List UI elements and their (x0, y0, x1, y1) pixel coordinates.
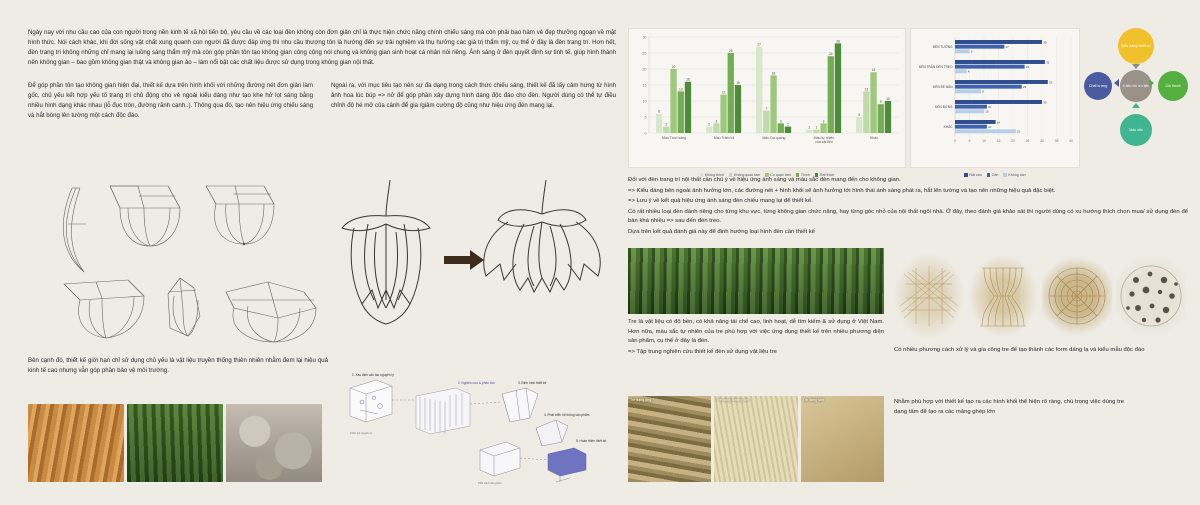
transform-arrow (444, 250, 484, 270)
svg-text:23: 23 (1023, 85, 1027, 89)
bamboo-caption-2: Tre dạng tấm (803, 398, 824, 402)
two-column-text: Để góp phần tôn tạo không gian hiện đại,… (28, 81, 616, 125)
form-description-text: Nhằm phù hợp với thiết kế tạo ra các hìn… (894, 398, 1124, 422)
svg-text:13: 13 (865, 87, 869, 91)
intro-paragraph: Ngày nay với nhu cầu cao của con người t… (28, 28, 616, 67)
material-note-text: Bên cạnh đó, thiết kế giới hạn chỉ sử dụ… (28, 356, 328, 376)
svg-text:9: 9 (880, 100, 882, 104)
svg-text:28: 28 (836, 39, 840, 43)
craft-woven-lamp-1 (894, 254, 964, 338)
svg-text:KHÁC: KHÁC (944, 125, 954, 129)
svg-text:27: 27 (757, 43, 761, 47)
svg-text:11: 11 (988, 105, 991, 109)
bubble-quality: Chất lượng (1084, 72, 1112, 100)
bamboo-conclusion: => Tập trung nghiên cứu thiết kế đèn sử … (628, 348, 884, 358)
svg-text:Khác: Khác (870, 136, 878, 140)
material-photo-strip (28, 404, 322, 482)
svg-text:18: 18 (772, 71, 776, 75)
svg-text:6: 6 (658, 110, 660, 114)
color-preference-chart: 05101520253062201316Màu Tươi sáng2312251… (628, 28, 906, 168)
svg-text:25: 25 (643, 51, 647, 55)
svg-text:3: 3 (780, 119, 782, 123)
svg-text:Màu Dạ quang: Màu Dạ quang (763, 136, 786, 140)
svg-text:của vật liệu: của vật liệu (815, 140, 833, 144)
svg-text:ĐÈN ĐỂ BÀN: ĐÈN ĐỂ BÀN (933, 84, 953, 89)
bamboo-material-text: Tre là vật liệu có độ bền, có khả năng t… (628, 318, 884, 362)
craft-perforated-sphere (1116, 254, 1186, 338)
analysis-line-5: Dựa trên kết quả đánh giá này để định hư… (628, 228, 1188, 238)
priority-criteria-diagram: Kiểu dáng/ thiết kế Chất lượng 4 tiêu ch… (1084, 28, 1188, 168)
column-b: Ngoài ra, với mục tiêu tạo nên sự đa dạn… (331, 81, 616, 125)
svg-text:Màu Tươi sáng: Màu Tươi sáng (662, 136, 686, 140)
form-text: Nhằm phù hợp với thiết kế tạo ra các hìn… (894, 398, 1124, 417)
svg-text:30: 30 (643, 35, 647, 39)
analysis-line-3: => Lưu ý về kết quả hiệu ứng ánh sáng đè… (628, 197, 1188, 207)
bubble-price: Giá thành (1158, 71, 1188, 101)
bamboo-desc: Tre là vật liệu có độ bền, có khả năng t… (628, 318, 884, 347)
svg-text:20: 20 (643, 67, 647, 71)
analysis-line-4: Có rất nhiều loại đèn dành riêng cho từn… (628, 208, 1188, 227)
svg-text:10: 10 (982, 139, 986, 143)
tech-step-5: 5. Hoàn thiện thiết kế (576, 439, 606, 443)
svg-text:1: 1 (808, 126, 810, 130)
stone-texture-photo (226, 404, 322, 482)
bamboo-board-photo: Tre dạng tấm (801, 396, 884, 482)
svg-text:30: 30 (1043, 40, 1047, 44)
tech-step-4: 4. Phát triển hệ thống sản phẩm (544, 413, 590, 417)
bamboo-caption-0: Tre dạng ống (630, 398, 651, 402)
svg-text:31: 31 (1046, 60, 1050, 64)
svg-text:5: 5 (971, 50, 973, 54)
material-note: Bên cạnh đó, thiết kế giới hạn chỉ sử dụ… (28, 356, 328, 381)
bamboo-forest-large-photo (628, 248, 884, 314)
svg-text:Màu Trầm tối: Màu Trầm tối (714, 136, 735, 140)
svg-text:32: 32 (1049, 80, 1053, 84)
svg-text:10: 10 (886, 97, 890, 101)
svg-text:10: 10 (985, 110, 989, 114)
lamp-type-need-chart: 051015202530354030175ĐÈN TƯỜNG31244ĐÈN T… (910, 28, 1080, 168)
bamboo-forest-photo (127, 404, 223, 482)
svg-text:35: 35 (1055, 139, 1059, 143)
analysis-line-2: => Kiểu dáng bên ngoài ảnh hưởng lớn, cá… (628, 187, 1188, 197)
bubble-color: Màu sắc (1120, 114, 1152, 146)
svg-text:3: 3 (823, 119, 825, 123)
presentation-board: Ngày nay với nhu cầu cao của con người t… (0, 0, 1200, 505)
bamboo-tube-photo: Tre dạng ống (628, 396, 711, 482)
concept-sketch-area (28, 180, 616, 348)
svg-text:0: 0 (954, 139, 956, 143)
svg-text:1: 1 (815, 126, 817, 130)
svg-text:19: 19 (872, 68, 876, 72)
column-b-text: Ngoài ra, với mục tiêu tạo nên sự đa dạn… (331, 81, 616, 111)
svg-text:13: 13 (679, 87, 683, 91)
svg-text:ĐÈN TRẦN ĐÈN TREO: ĐÈN TRẦN ĐÈN TREO (919, 64, 953, 69)
svg-text:7: 7 (765, 107, 767, 111)
bamboo-form-photos: Tre dạng ống Tre dạng đường chẻ Tre dạng… (628, 396, 884, 482)
svg-text:25: 25 (729, 49, 733, 53)
lighting-analysis-text: Đối với đèn trang trí nội thất cần chú ý… (628, 176, 1188, 242)
svg-text:2: 2 (787, 123, 789, 127)
svg-text:15: 15 (736, 81, 740, 85)
tech-step-1: 1. Xác định cấu tạo nguyên lý (352, 373, 394, 377)
svg-text:11: 11 (988, 125, 991, 129)
bubble-center: 4 tiêu chí ưu tiên (1120, 70, 1152, 102)
bamboo-craft-thumbnails (894, 254, 1186, 338)
left-text-column: Ngày nay với nhu cầu cao của con người t… (28, 28, 616, 126)
svg-text:10: 10 (643, 99, 647, 103)
svg-text:16: 16 (686, 78, 690, 82)
bamboo-caption-1: Tre dạng đường chẻ (716, 398, 749, 402)
svg-text:24: 24 (829, 52, 833, 56)
svg-text:30: 30 (1040, 139, 1044, 143)
svg-text:2: 2 (708, 123, 710, 127)
craft-hourglass-lamp (968, 254, 1038, 338)
svg-text:3: 3 (715, 119, 717, 123)
svg-text:5: 5 (858, 113, 860, 117)
svg-text:14: 14 (997, 120, 1001, 124)
craft-text: Có nhiều phương cách xử lý và gia công t… (894, 346, 1184, 356)
craft-description-text: Có nhiều phương cách xử lý và gia công t… (894, 346, 1184, 361)
tech-caption: Phối cảnh sản phẩm (478, 481, 502, 485)
tech-step-3: 3. Định hình thiết kế (518, 381, 547, 385)
bamboo-strip-photo: Tre dạng đường chẻ (714, 396, 797, 482)
flower-bud-bloom-sketch (328, 180, 616, 348)
svg-text:17: 17 (1006, 45, 1010, 49)
svg-text:15: 15 (643, 83, 647, 87)
analysis-line-1: Đối với đèn trang trí nội thất cần chú ý… (628, 176, 1188, 186)
column-a-text: Để góp phần tôn tạo không gian hiện đại,… (28, 81, 313, 120)
svg-text:5: 5 (969, 139, 971, 143)
tech-step-2: 2. Nghiên cứu & phân tích (458, 381, 495, 385)
svg-text:2: 2 (665, 123, 667, 127)
svg-text:30: 30 (1043, 100, 1047, 104)
column-a: Để góp phần tôn tạo không gian hiện đại,… (28, 81, 313, 125)
svg-text:ĐÈN ĐỨNG: ĐÈN ĐỨNG (935, 104, 953, 109)
tech-caption-2: Khảo sát nguyên lý (350, 431, 373, 435)
svg-text:20: 20 (672, 65, 676, 69)
svg-text:12: 12 (722, 91, 726, 95)
svg-text:5: 5 (645, 115, 647, 119)
svg-text:ĐÈN TƯỜNG: ĐÈN TƯỜNG (933, 44, 953, 49)
bamboo-poles-photo (28, 404, 124, 482)
wireframe-lamp-sketches (28, 180, 328, 348)
svg-text:25: 25 (1026, 139, 1030, 143)
svg-text:20: 20 (1011, 139, 1015, 143)
craft-spiral-weave (1042, 254, 1112, 338)
svg-text:15: 15 (997, 139, 1001, 143)
svg-text:21: 21 (1017, 130, 1021, 134)
svg-text:0: 0 (645, 131, 647, 135)
intro-text: Ngày nay với nhu cầu cao của con người t… (28, 28, 616, 67)
technical-process-diagram: 1. Xác định cấu tạo nguyên lý 2. Nghiên … (330, 370, 616, 488)
svg-text:40: 40 (1069, 139, 1073, 143)
svg-text:24: 24 (1026, 65, 1030, 69)
bubble-style: Kiểu dáng/ thiết kế (1118, 28, 1154, 64)
